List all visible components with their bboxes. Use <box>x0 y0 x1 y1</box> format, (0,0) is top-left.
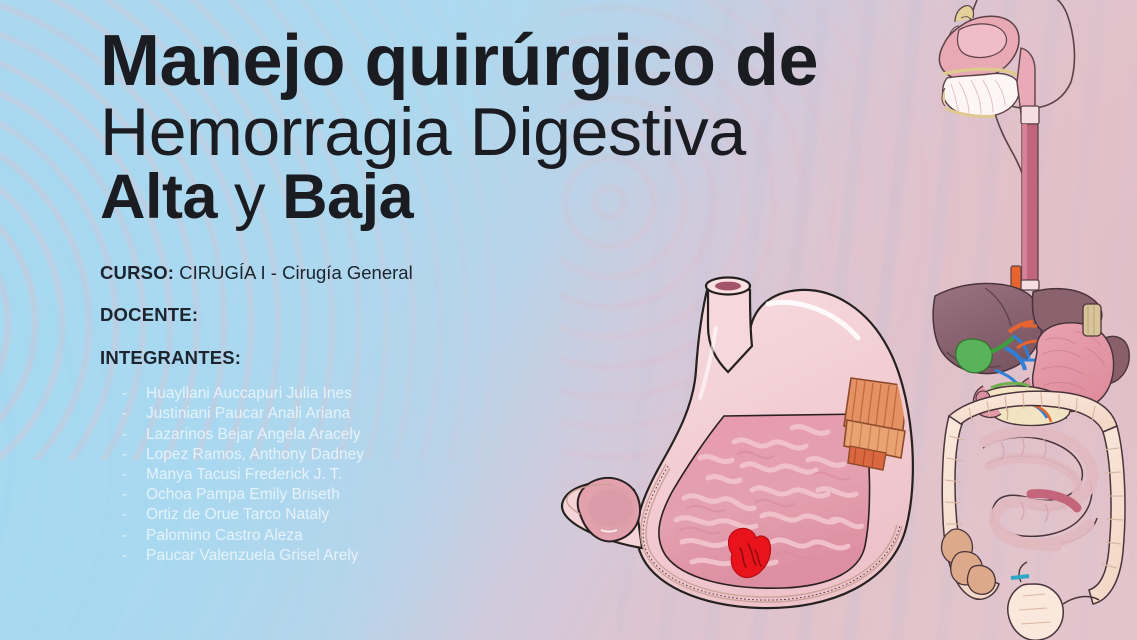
title-line-1: Manejo quirúrgico de <box>100 26 920 97</box>
member-item: -Manya Tacusi Frederick J. T. <box>100 465 920 485</box>
member-bullet: - <box>122 465 127 485</box>
member-name: Palomino Castro Aleza <box>146 527 303 544</box>
cecum-appendix <box>942 529 996 594</box>
digestive-system-illustration <box>925 0 1137 640</box>
member-item: -Lopez Ramos, Anthony Dadney <box>100 445 920 465</box>
integrantes-label: INTEGRANTES: <box>100 347 241 368</box>
title-alta: Alta <box>100 162 217 232</box>
member-bullet: - <box>122 425 127 445</box>
curso-row: CURSO: CIRUGÍA I - Cirugía General <box>100 263 920 282</box>
member-item: -Paucar Valenzuela Grisel Arely <box>100 546 920 566</box>
member-name: Huayllani Auccapuri Julia Ines <box>146 385 352 402</box>
member-item: -Huayllani Auccapuri Julia Ines <box>100 384 920 404</box>
member-bullet: - <box>122 384 127 404</box>
member-bullet: - <box>122 485 127 505</box>
member-item: -Justiniani Paucar Anali Ariana <box>100 404 920 424</box>
members-list: -Huayllani Auccapuri Julia Ines-Justinia… <box>100 384 920 566</box>
member-bullet: - <box>122 546 127 566</box>
curso-label: CURSO: <box>100 262 174 283</box>
member-bullet: - <box>122 404 127 424</box>
member-name: Ochoa Pampa Emily Briseth <box>146 486 340 503</box>
title-baja: Baja <box>282 162 413 232</box>
member-name: Lazarinos Bejar Angela Aracely <box>146 426 361 443</box>
gallbladder <box>956 339 993 373</box>
member-item: -Ortiz de Orue Tarco Nataly <box>100 505 920 525</box>
member-item: -Ochoa Pampa Emily Briseth <box>100 485 920 505</box>
member-item: -Lazarinos Bejar Angela Aracely <box>100 425 920 445</box>
integrantes-row: INTEGRANTES: <box>100 348 920 367</box>
docente-row: DOCENTE: <box>100 305 920 324</box>
member-name: Lopez Ramos, Anthony Dadney <box>146 446 364 463</box>
member-item: -Palomino Castro Aleza <box>100 526 920 546</box>
member-bullet: - <box>122 505 127 525</box>
title-line-2: Hemorragia Digestiva <box>100 99 920 166</box>
member-name: Justiniani Paucar Anali Ariana <box>146 405 350 422</box>
rectum-sigmoid <box>1008 562 1099 640</box>
member-name: Manya Tacusi Frederick J. T. <box>146 466 342 483</box>
title-line-3: Alta y Baja <box>100 167 920 229</box>
presentation-slide: Manejo quirúrgico de Hemorragia Digestiv… <box>0 0 1137 640</box>
member-bullet: - <box>122 526 127 546</box>
member-name: Paucar Valenzuela Grisel Arely <box>146 547 359 564</box>
title-conjunction: y <box>234 162 265 232</box>
slide-text-block: Manejo quirúrgico de Hemorragia Digestiv… <box>100 26 920 566</box>
curso-value: CIRUGÍA I - Cirugía General <box>174 262 413 283</box>
small-intestine <box>983 432 1097 547</box>
stomach-marker-block <box>1083 304 1101 336</box>
docente-label: DOCENTE: <box>100 304 198 325</box>
member-name: Ortiz de Orue Tarco Nataly <box>146 506 329 523</box>
course-meta: CURSO: CIRUGÍA I - Cirugía General DOCEN… <box>100 263 920 367</box>
member-bullet: - <box>122 445 127 465</box>
